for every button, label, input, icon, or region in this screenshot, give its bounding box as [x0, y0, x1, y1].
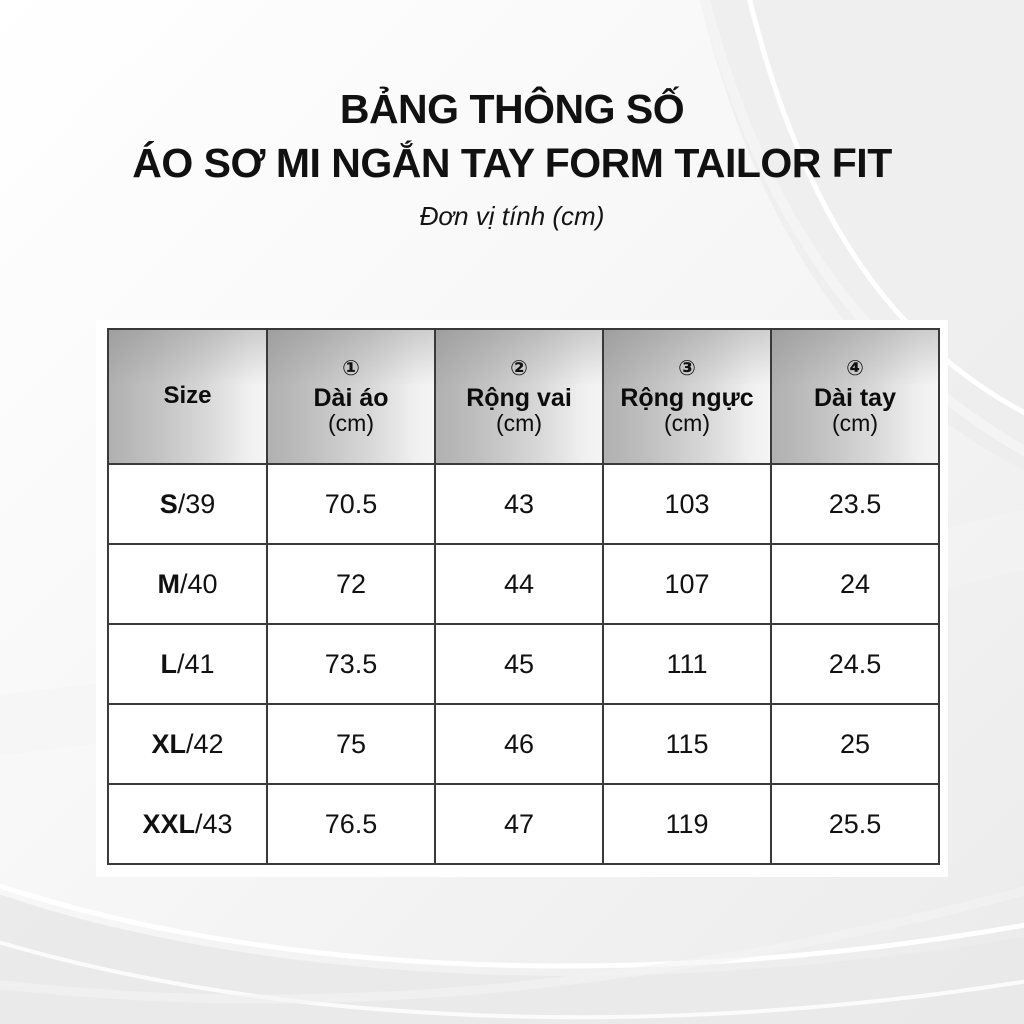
circled-three-icon: ③: [678, 358, 696, 379]
cell-dai-ao: 72: [267, 544, 435, 624]
column-header-rong-nguc: ③ Rộng ngực (cm): [603, 329, 771, 464]
cell-rong-nguc: 103: [603, 464, 771, 544]
cell-rong-vai: 46: [435, 704, 603, 784]
cell-rong-vai: 43: [435, 464, 603, 544]
table-header: Size ① Dài áo (cm) ② Rộng vai: [108, 329, 939, 464]
cell-size: L/41: [108, 624, 267, 704]
page-title-line-2: ÁO SƠ MI NGẮN TAY FORM TAILOR FIT: [0, 140, 1024, 188]
cell-dai-tay: 23.5: [771, 464, 939, 544]
column-header-rong-vai-unit: (cm): [496, 413, 542, 435]
cell-size: S/39: [108, 464, 267, 544]
circled-one-icon: ①: [342, 358, 360, 379]
column-header-rong-vai-label: Rộng vai: [466, 386, 572, 412]
table-row: XL/42754611525: [108, 704, 939, 784]
column-header-dai-tay: ④ Dài tay (cm): [771, 329, 939, 464]
column-header-rong-vai: ② Rộng vai (cm): [435, 329, 603, 464]
cell-size: XXL/43: [108, 784, 267, 864]
cell-rong-vai: 44: [435, 544, 603, 624]
column-header-dai-tay-label: Dài tay: [814, 386, 896, 412]
cell-dai-ao: 75: [267, 704, 435, 784]
title-block: BẢNG THÔNG SỐ ÁO SƠ MI NGẮN TAY FORM TAI…: [0, 86, 1024, 232]
cell-rong-vai: 45: [435, 624, 603, 704]
cell-rong-nguc: 111: [603, 624, 771, 704]
circled-two-icon: ②: [510, 358, 528, 379]
page-subtitle-unit: Đơn vị tính (cm): [0, 201, 1024, 232]
size-collar-number: /39: [178, 489, 216, 519]
table-row: L/4173.54511124.5: [108, 624, 939, 704]
column-header-size-label: Size: [163, 384, 211, 408]
size-letter: S: [160, 489, 178, 519]
column-header-dai-tay-unit: (cm): [832, 413, 878, 435]
size-table-container: Size ① Dài áo (cm) ② Rộng vai: [96, 320, 948, 877]
page-content: BẢNG THÔNG SỐ ÁO SƠ MI NGẮN TAY FORM TAI…: [0, 0, 1024, 1024]
size-letter: L: [160, 649, 177, 679]
cell-rong-vai: 47: [435, 784, 603, 864]
page-title-line-1: BẢNG THÔNG SỐ: [0, 86, 1024, 134]
cell-dai-tay: 25: [771, 704, 939, 784]
table-body: S/3970.54310323.5M/40724410724L/4173.545…: [108, 464, 939, 864]
size-letter: M: [157, 569, 180, 599]
cell-dai-ao: 76.5: [267, 784, 435, 864]
table-row: M/40724410724: [108, 544, 939, 624]
column-header-dai-ao-unit: (cm): [328, 413, 374, 435]
column-header-dai-ao-label: Dài áo: [313, 386, 388, 412]
cell-rong-nguc: 115: [603, 704, 771, 784]
circled-four-icon: ④: [846, 358, 864, 379]
column-header-rong-nguc-label: Rộng ngực: [620, 386, 753, 412]
size-collar-number: /40: [180, 569, 218, 599]
size-collar-number: /41: [177, 649, 215, 679]
table-header-row: Size ① Dài áo (cm) ② Rộng vai: [108, 329, 939, 464]
column-header-size: Size: [108, 329, 267, 464]
table-row: XXL/4376.54711925.5: [108, 784, 939, 864]
table-row: S/3970.54310323.5: [108, 464, 939, 544]
cell-dai-tay: 24: [771, 544, 939, 624]
cell-dai-ao: 70.5: [267, 464, 435, 544]
cell-dai-ao: 73.5: [267, 624, 435, 704]
cell-rong-nguc: 119: [603, 784, 771, 864]
size-letter: XXL: [142, 809, 195, 839]
cell-size: XL/42: [108, 704, 267, 784]
size-collar-number: /42: [186, 729, 224, 759]
cell-dai-tay: 25.5: [771, 784, 939, 864]
cell-dai-tay: 24.5: [771, 624, 939, 704]
column-header-dai-ao: ① Dài áo (cm): [267, 329, 435, 464]
size-collar-number: /43: [195, 809, 233, 839]
cell-size: M/40: [108, 544, 267, 624]
cell-rong-nguc: 107: [603, 544, 771, 624]
size-chart-table: Size ① Dài áo (cm) ② Rộng vai: [107, 328, 940, 865]
column-header-rong-nguc-unit: (cm): [664, 413, 710, 435]
size-letter: XL: [151, 729, 186, 759]
